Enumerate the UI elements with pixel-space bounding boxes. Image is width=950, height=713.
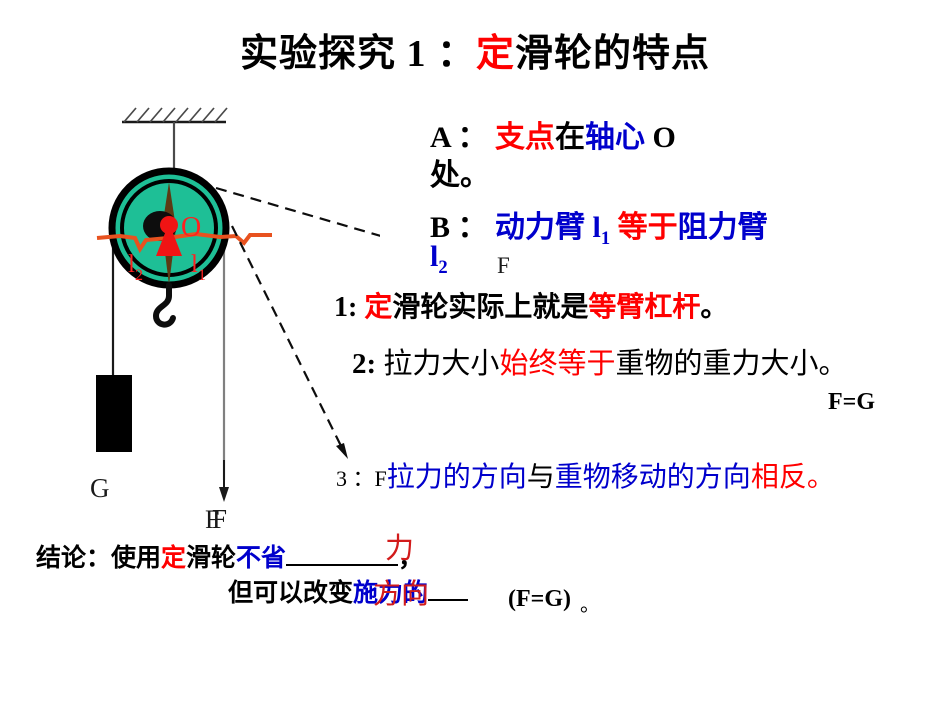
- callout-dashed-arrow-2: [232, 226, 348, 459]
- conclusion-bushing: 不省: [236, 545, 286, 572]
- title-part-2: 定: [476, 33, 515, 75]
- conclusion-lead: 结论：使用: [36, 545, 161, 572]
- point-b-blue-1: 动力臂 l: [495, 211, 601, 244]
- statement-3-blue-2: 重物移动的方向: [555, 462, 751, 493]
- conclusion-red-ding: 定: [161, 545, 186, 572]
- callout-dashed-arrow-1: [216, 188, 380, 269]
- conclusion-hualun: 滑轮: [186, 545, 236, 572]
- force-equals-gravity-equation: F=G: [828, 389, 875, 416]
- ink-answer-direction: 方向: [373, 572, 429, 612]
- point-b-red: 等于: [610, 211, 678, 244]
- point-b-sub-1: 1: [601, 228, 610, 249]
- point-b-continuation: l2: [430, 240, 448, 279]
- statement-3-black: 与: [527, 462, 555, 493]
- weight-label-g: G: [90, 473, 110, 503]
- conclusion-trailing-dot: 。: [580, 588, 600, 617]
- conclusion-blank-2[interactable]: [428, 599, 468, 601]
- weight-block: [96, 375, 132, 452]
- point-a-cont-text: 处。: [430, 159, 490, 192]
- statement-3-number: 3 ：: [336, 466, 375, 491]
- conclusion-blank-1[interactable]: [286, 564, 398, 566]
- statement-1-red-2: 等臂杠杆: [588, 292, 700, 323]
- statement-3: 3 ：F拉力的方向与重物移动的方向相反。: [336, 455, 835, 495]
- statement-1-black: 滑轮实际上就是: [392, 292, 588, 323]
- statement-3-red: 相反。: [751, 462, 835, 493]
- conclusion-line-2: 但可以改变施力的: [228, 573, 468, 609]
- statement-2: 2: 拉力大小始终等于重物的重力大小。: [352, 340, 847, 382]
- statement-2-black-2: 重物的重力大小。: [615, 348, 847, 380]
- point-b-blue-2: 阻力臂: [678, 211, 768, 244]
- conclusion-line-1: 结论：使用定滑轮不省，: [36, 538, 423, 574]
- title-part-3: 滑轮的特点: [515, 33, 710, 75]
- conclusion-line2-black: 但可以改变: [228, 580, 353, 607]
- point-b-line: B ： 动力臂 l1 等于阻力臂: [430, 202, 768, 250]
- point-b-sub-2: 2: [438, 257, 447, 278]
- conclusion-fg-note: (F=G): [508, 586, 571, 613]
- statement-1: 1: 定滑轮实际上就是等臂杠杆。: [334, 285, 728, 325]
- point-a-continuation: 处。: [430, 150, 490, 194]
- statement-2-black-1: 拉力大小: [383, 348, 499, 380]
- statement-2-red: 始终等于: [499, 348, 615, 380]
- stray-label-f: F: [205, 505, 219, 535]
- point-a-red: 支点: [495, 121, 555, 154]
- point-a-blue: 轴心: [585, 121, 645, 154]
- statement-1-number: 1:: [334, 292, 364, 323]
- axle-center-dot: [160, 216, 178, 234]
- ceiling-support-icon: [122, 108, 227, 122]
- statement-1-red-1: 定: [364, 292, 392, 323]
- statement-3-f-mark: F: [375, 466, 387, 491]
- point-a-black-1: 在: [555, 121, 585, 154]
- pulley-hook-icon: [156, 285, 173, 325]
- slide-canvas: 实验探究 1 ：定滑轮的特点: [0, 0, 950, 713]
- statement-2-number: 2:: [352, 348, 383, 380]
- ink-answer-force: 力: [385, 525, 414, 567]
- axle-label-o: O: [181, 212, 201, 243]
- statement-3-blue-1: 拉力的方向: [387, 462, 527, 493]
- force-arrow-f: [219, 460, 229, 502]
- point-a-black-2: O: [645, 121, 676, 154]
- statement-1-end: 。: [700, 292, 728, 323]
- fixed-pulley-diagram: O l2 l1 G F: [0, 0, 380, 560]
- dashed-arrow-1-label-f: F: [497, 253, 510, 279]
